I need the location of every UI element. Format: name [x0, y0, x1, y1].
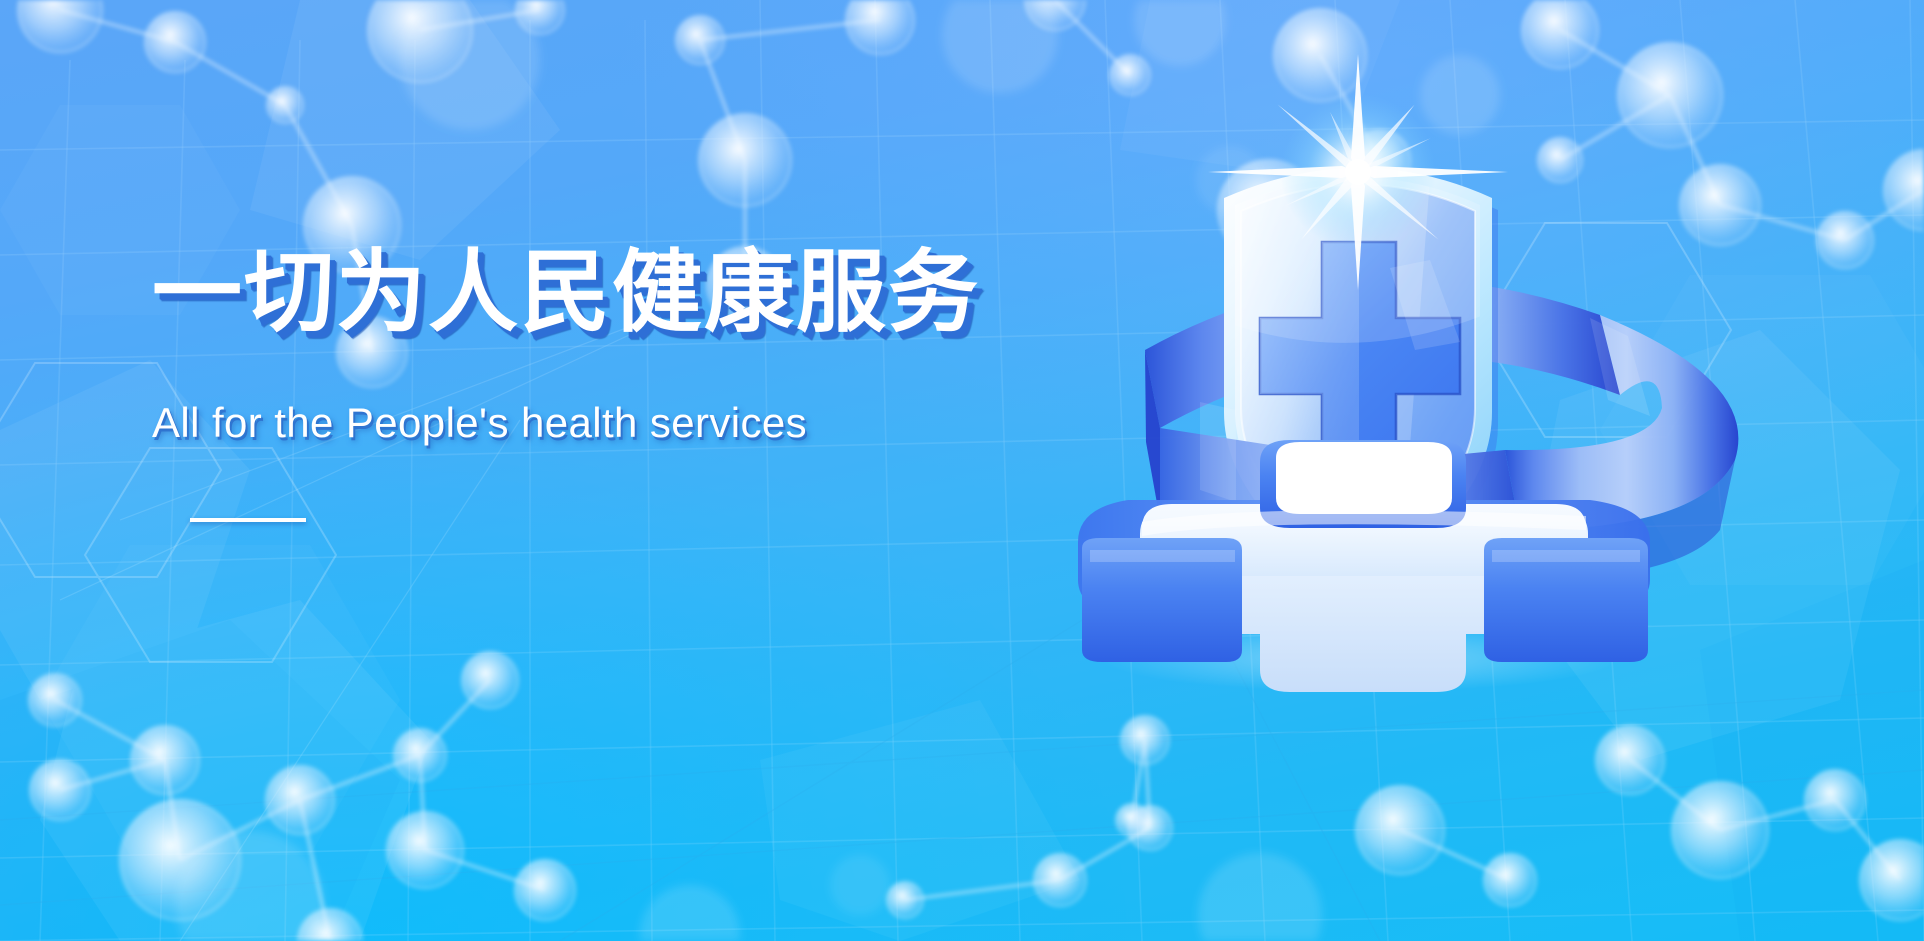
banner-text-block: 一切为人民健康服务 All for the People's health se…	[152, 245, 1052, 522]
page-subtitle: All for the People's health services	[152, 400, 1052, 446]
health-shield-emblem	[960, 110, 1800, 690]
health-banner: 一切为人民健康服务 All for the People's health se…	[0, 0, 1924, 941]
page-title: 一切为人民健康服务	[152, 245, 1052, 342]
title-divider	[190, 518, 306, 522]
